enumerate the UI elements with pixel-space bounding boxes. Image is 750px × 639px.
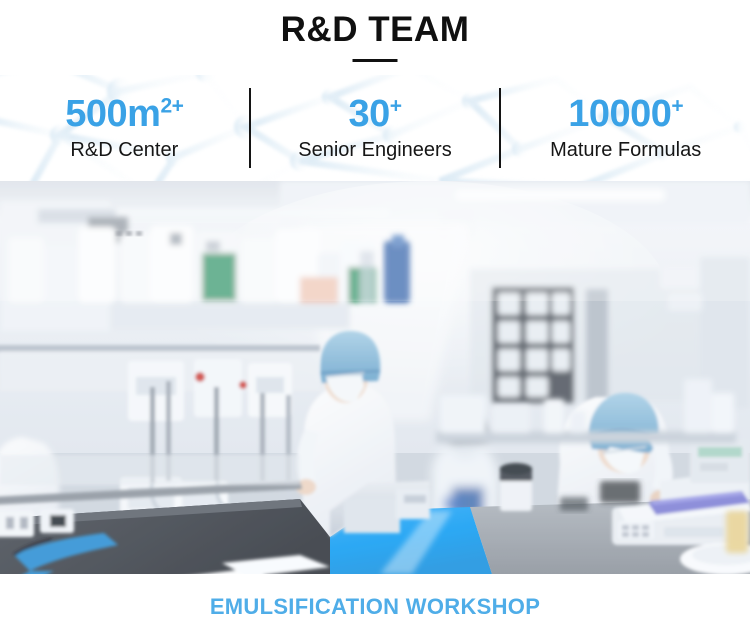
workshop-photo xyxy=(0,181,750,574)
stat-label: Mature Formulas xyxy=(507,137,744,163)
stats-strip: 500m2+ R&D Center 30+ Senior Engineers 1… xyxy=(0,75,750,181)
stat-label: R&D Center xyxy=(6,137,243,163)
stat-number: 10000 xyxy=(568,93,671,135)
stat-value: 30+ xyxy=(257,93,494,135)
caption-text: EMULSIFICATION WORKSHOP xyxy=(210,594,540,620)
stat-senior-engineers: 30+ Senior Engineers xyxy=(251,93,500,163)
stat-rd-center: 500m2+ R&D Center xyxy=(0,93,249,163)
stats-row: 500m2+ R&D Center 30+ Senior Engineers 1… xyxy=(0,75,750,181)
stat-mature-formulas: 10000+ Mature Formulas xyxy=(501,93,750,163)
stat-value: 500m2+ xyxy=(6,93,243,135)
stat-label: Senior Engineers xyxy=(257,137,494,163)
stat-superscript: + xyxy=(390,94,402,117)
stat-number: 30 xyxy=(348,93,389,135)
stat-superscript: 2+ xyxy=(160,94,183,117)
stat-superscript: + xyxy=(671,94,683,117)
stat-unit: m xyxy=(127,93,160,135)
stat-number: 500 xyxy=(65,93,127,135)
workshop-photo-illustration xyxy=(0,181,750,574)
caption-bar: EMULSIFICATION WORKSHOP xyxy=(0,574,750,639)
title-underline-rule xyxy=(353,59,398,62)
rd-team-banner: R&D TEAM xyxy=(0,0,750,639)
header: R&D TEAM xyxy=(0,0,750,75)
stat-value: 10000+ xyxy=(507,93,744,135)
page-title: R&D TEAM xyxy=(0,8,750,52)
